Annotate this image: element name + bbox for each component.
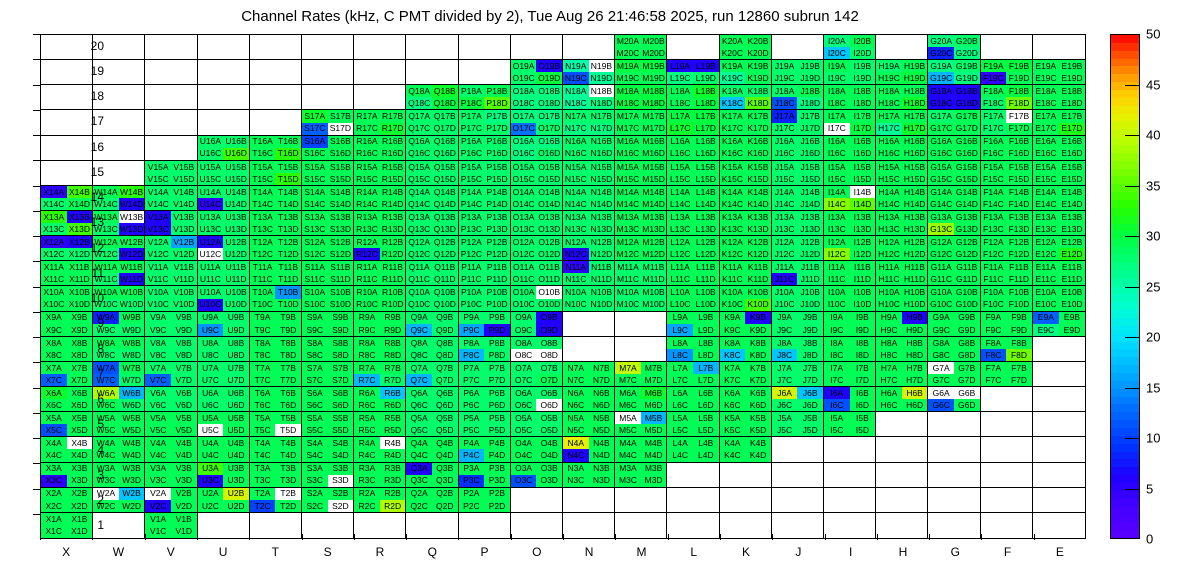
channel-Q7D[interactable]: Q7D [432,374,458,386]
heatmap-cell-U6[interactable]: U6AU6BU6CU6D [198,387,250,412]
channel-S16B[interactable]: S16B [328,136,354,148]
heatmap-cell-P15[interactable]: P15AP15BP15CP15D [459,161,511,186]
heatmap-cell-K10[interactable]: K10AK10BK10CK10D [720,286,772,311]
channel-E17A[interactable]: E17A [1033,110,1059,122]
channel-E15C[interactable]: E15C [1033,173,1059,185]
channel-T16D[interactable]: T16D [275,148,301,160]
channel-T9C[interactable]: T9C [250,324,276,336]
channel-U15B[interactable]: U15B [223,161,249,173]
channel-V4A[interactable]: V4A [145,437,171,449]
channel-R7D[interactable]: R7D [380,374,406,386]
channel-U6A[interactable]: U6A [198,387,224,399]
channel-W2D[interactable]: W2D [119,500,145,512]
channel-S15B[interactable]: S15B [328,161,354,173]
channel-I13A[interactable]: I13A [824,211,850,223]
channel-T8D[interactable]: T8D [275,349,301,361]
heatmap-cell-H15[interactable]: H15AH15BH15CH15D [876,161,928,186]
heatmap-cell-J13[interactable]: J13AJ13BJ13CJ13D [772,211,824,236]
channel-L10A[interactable]: L10A [667,286,693,298]
channel-H12A[interactable]: H12A [876,236,902,248]
channel-V13A[interactable]: V13A [145,211,171,223]
channel-I14C[interactable]: I14C [824,198,850,210]
heatmap-cell-O20[interactable] [511,35,563,60]
channel-Q7A[interactable]: Q7A [406,362,432,374]
channel-F9C[interactable]: F9C [981,324,1007,336]
channel-H13D[interactable]: H13D [902,223,928,235]
heatmap-cell-K18[interactable]: K18AK18BK18CK18D [720,85,772,110]
channel-P5D[interactable]: P5D [484,424,510,436]
channel-W7C[interactable]: W7C [93,374,119,386]
channel-V12D[interactable]: V12D [171,248,197,260]
heatmap-cell-E7[interactable] [1033,362,1085,387]
channel-U9B[interactable]: U9B [223,312,249,324]
heatmap-cell-M8[interactable] [615,337,667,362]
heatmap-cell-U15[interactable]: U15AU15BU15CU15D [198,161,250,186]
channel-P14D[interactable]: P14D [484,198,510,210]
channel-T5A[interactable]: T5A [250,412,276,424]
channel-M5C[interactable]: M5C [615,424,641,436]
channel-T4D[interactable]: T4D [275,449,301,461]
channel-K11B[interactable]: K11B [745,261,771,273]
channel-G9B[interactable]: G9B [954,312,980,324]
heatmap-cell-I18[interactable]: I18AI18BI18CI18D [824,85,876,110]
channel-P18B[interactable]: P18B [484,85,510,97]
heatmap-cell-U5[interactable]: U5AU5BU5CU5D [198,412,250,437]
heatmap-cell-J1[interactable] [772,513,824,538]
channel-K20C[interactable]: K20C [720,47,746,59]
channel-O14D[interactable]: O14D [536,198,562,210]
channel-I10C[interactable]: I10C [824,299,850,311]
channel-N3C[interactable]: N3C [563,475,589,487]
channel-L4B[interactable]: L4B [693,437,719,449]
channel-V14A[interactable]: V14A [145,186,171,198]
channel-L12B[interactable]: L12B [693,236,719,248]
channel-M6B[interactable]: M6B [641,387,667,399]
heatmap-cell-S2[interactable]: S2AS2BS2CS2D [302,488,354,513]
heatmap-cell-I12[interactable]: I12AI12BI12CI12D [824,236,876,261]
channel-M12A[interactable]: M12A [615,236,641,248]
heatmap-cell-S16[interactable]: S16AS16BS16CS16D [302,136,354,161]
heatmap-cell-W6[interactable]: W6AW6BW6CW6D [93,387,145,412]
heatmap-cell-X13[interactable]: X13AX13BX13CX13D [41,211,93,236]
channel-P9D[interactable]: P9D [484,324,510,336]
heatmap-cell-Q5[interactable]: Q5AQ5BQ5CQ5D [406,412,458,437]
heatmap-cell-U3[interactable]: U3AU3BU3CU3D [198,463,250,488]
channel-R11D[interactable]: R11D [380,273,406,285]
channel-R7A[interactable]: R7A [354,362,380,374]
channel-V7D[interactable]: V7D [171,374,197,386]
channel-I17C[interactable]: I17C [824,123,850,135]
heatmap-cell-V19[interactable] [145,60,197,85]
channel-W9D[interactable]: W9D [119,324,145,336]
channel-E19A[interactable]: E19A [1033,60,1059,72]
channel-F8A[interactable]: F8A [981,337,1007,349]
channel-N18C[interactable]: N18C [563,97,589,109]
channel-M14D[interactable]: M14D [641,198,667,210]
channel-G10A[interactable]: G10A [928,286,954,298]
channel-P18A[interactable]: P18A [459,85,485,97]
channel-X10A[interactable]: X10A [41,286,67,298]
channel-N16A[interactable]: N16A [563,136,589,148]
channel-H17C[interactable]: H17C [876,123,902,135]
heatmap-cell-V11[interactable]: V11AV11BV11CV11D [145,261,197,286]
channel-K14D[interactable]: K14D [745,198,771,210]
channel-O8D[interactable]: O8D [536,349,562,361]
channel-T4A[interactable]: T4A [250,437,276,449]
channel-U5D[interactable]: U5D [223,424,249,436]
heatmap-cell-N19[interactable]: N19AN19BN19CN19D [563,60,615,85]
heatmap-cell-J10[interactable]: J10AJ10BJ10CJ10D [772,286,824,311]
channel-S11D[interactable]: S11D [328,273,354,285]
channel-W4D[interactable]: W4D [119,449,145,461]
heatmap-cell-J9[interactable]: J9AJ9BJ9CJ9D [772,312,824,337]
heatmap-cell-L19[interactable]: L19AL19BL19CL19D [667,60,719,85]
channel-P13D[interactable]: P13D [484,223,510,235]
channel-Q10C[interactable]: Q10C [406,299,432,311]
channel-M3C[interactable]: M3C [615,475,641,487]
channel-N12B[interactable]: N12B [589,236,615,248]
channel-E14D[interactable]: E14D [1059,198,1085,210]
channel-J15D[interactable]: J15D [797,173,823,185]
channel-N18D[interactable]: N18D [589,97,615,109]
channel-J12D[interactable]: J12D [797,248,823,260]
channel-I18D[interactable]: I18D [850,97,876,109]
channel-T7A[interactable]: T7A [250,362,276,374]
channel-V14C[interactable]: V14C [145,198,171,210]
channel-E17C[interactable]: E17C [1033,123,1059,135]
channel-S4B[interactable]: S4B [328,437,354,449]
channel-I9B[interactable]: I9B [850,312,876,324]
channel-I14D[interactable]: I14D [850,198,876,210]
channel-F8B[interactable]: F8B [1006,337,1032,349]
heatmap-cell-L8[interactable]: L8AL8BL8CL8D [667,337,719,362]
channel-F9A[interactable]: F9A [981,312,1007,324]
channel-O5A[interactable]: O5A [511,412,537,424]
channel-H15D[interactable]: H15D [902,173,928,185]
channel-G19D[interactable]: G19D [954,72,980,84]
channel-L14A[interactable]: L14A [667,186,693,198]
channel-P6B[interactable]: P6B [484,387,510,399]
channel-P17B[interactable]: P17B [484,110,510,122]
channel-H8C[interactable]: H8C [876,349,902,361]
channel-N10C[interactable]: N10C [563,299,589,311]
channel-N19C[interactable]: N19C [563,72,589,84]
channel-G8D[interactable]: G8D [954,349,980,361]
channel-R16D[interactable]: R16D [380,148,406,160]
heatmap-cell-Q3[interactable]: Q3AQ3BQ3CQ3D [406,463,458,488]
channel-N17A[interactable]: N17A [563,110,589,122]
channel-O19B[interactable]: O19B [536,60,562,72]
heatmap-cell-K16[interactable]: K16AK16BK16CK16D [720,136,772,161]
heatmap-cell-P17[interactable]: P17AP17BP17CP17D [459,110,511,135]
heatmap-cell-N17[interactable]: N17AN17BN17CN17D [563,110,615,135]
channel-W12B[interactable]: W12B [119,236,145,248]
heatmap-cell-V7[interactable]: V7AV7BV7CV7D [145,362,197,387]
channel-K19B[interactable]: K19B [745,60,771,72]
channel-G9D[interactable]: G9D [954,324,980,336]
channel-T3D[interactable]: T3D [275,475,301,487]
heatmap-cell-T7[interactable]: T7AT7BT7CT7D [250,362,302,387]
channel-L4A[interactable]: L4A [667,437,693,449]
channel-O11C[interactable]: O11C [511,273,537,285]
heatmap-cell-N6[interactable]: N6AN6BN6CN6D [563,387,615,412]
channel-N13C[interactable]: N13C [563,223,589,235]
channel-L15C[interactable]: L15C [667,173,693,185]
channel-X9C[interactable]: X9C [41,324,67,336]
heatmap-cell-I3[interactable] [824,463,876,488]
channel-K17A[interactable]: K17A [720,110,746,122]
channel-O4A[interactable]: O4A [511,437,537,449]
channel-P8C[interactable]: P8C [459,349,485,361]
heatmap-plot-area[interactable]: M20AM20BM20CM20DK20AK20BK20CK20DI20AI20B… [40,34,1086,539]
channel-L4C[interactable]: L4C [667,449,693,461]
channel-U9A[interactable]: U9A [198,312,224,324]
channel-V2C[interactable]: V2C [145,500,171,512]
heatmap-cell-O16[interactable]: O16AO16BO16CO16D [511,136,563,161]
channel-P9A[interactable]: P9A [459,312,485,324]
heatmap-cell-W12[interactable]: W12AW12BW12CW12D [93,236,145,261]
channel-K6C[interactable]: K6C [720,399,746,411]
heatmap-cell-K20[interactable]: K20AK20BK20CK20D [720,35,772,60]
channel-F14B[interactable]: F14B [1006,186,1032,198]
channel-U4A[interactable]: U4A [198,437,224,449]
channel-R13A[interactable]: R13A [354,211,380,223]
channel-V5A[interactable]: V5A [145,412,171,424]
channel-T10D[interactable]: T10D [275,299,301,311]
channel-Q5B[interactable]: Q5B [432,412,458,424]
heatmap-cell-W7[interactable]: W7AW7BW7CW7D [93,362,145,387]
channel-S2A[interactable]: S2A [302,488,328,500]
channel-X5A[interactable]: X5A [41,412,67,424]
channel-U8D[interactable]: U8D [223,349,249,361]
channel-H13B[interactable]: H13B [902,211,928,223]
channel-F16B[interactable]: F16B [1006,136,1032,148]
channel-U12D[interactable]: U12D [223,248,249,260]
channel-P12A[interactable]: P12A [459,236,485,248]
channel-O6C[interactable]: O6C [511,399,537,411]
channel-T14A[interactable]: T14A [250,186,276,198]
channel-H9A[interactable]: H9A [876,312,902,324]
channel-S10B[interactable]: S10B [328,286,354,298]
channel-R12C[interactable]: R12C [354,248,380,260]
heatmap-cell-S7[interactable]: S7AS7BS7CS7D [302,362,354,387]
channel-K5D[interactable]: K5D [745,424,771,436]
channel-Q17D[interactable]: Q17D [432,123,458,135]
channel-W14A[interactable]: W14A [93,186,119,198]
heatmap-cell-F17[interactable]: F17AF17BF17CF17D [981,110,1033,135]
channel-M19C[interactable]: M19C [615,72,641,84]
heatmap-cell-L5[interactable]: L5AL5BL5CL5D [667,412,719,437]
channel-F12B[interactable]: F12B [1006,236,1032,248]
channel-K11A[interactable]: K11A [720,261,746,273]
channel-O19A[interactable]: O19A [511,60,537,72]
channel-O16A[interactable]: O16A [511,136,537,148]
heatmap-cell-W10[interactable]: W10AW10BW10CW10D [93,286,145,311]
heatmap-cell-W2[interactable]: W2AW2BW2CW2D [93,488,145,513]
channel-R14B[interactable]: R14B [380,186,406,198]
channel-M11A[interactable]: M11A [615,261,641,273]
heatmap-cell-L7[interactable]: L7AL7BL7CL7D [667,362,719,387]
channel-P4A[interactable]: P4A [459,437,485,449]
channel-O13A[interactable]: O13A [511,211,537,223]
heatmap-cell-G11[interactable]: G11AG11BG11CG11D [928,261,980,286]
channel-P7A[interactable]: P7A [459,362,485,374]
heatmap-cell-E8[interactable] [1033,337,1085,362]
channel-S12A[interactable]: S12A [302,236,328,248]
channel-L14C[interactable]: L14C [667,198,693,210]
heatmap-cell-E13[interactable]: E13AE13BE13CE13D [1033,211,1085,236]
channel-N11C[interactable]: N11C [563,273,589,285]
channel-X11D[interactable]: X11D [67,273,93,285]
channel-S6D[interactable]: S6D [328,399,354,411]
channel-T6B[interactable]: T6B [275,387,301,399]
channel-S10D[interactable]: S10D [328,299,354,311]
channel-W10D[interactable]: W10D [119,299,145,311]
channel-G17B[interactable]: G17B [954,110,980,122]
channel-L17D[interactable]: L17D [693,123,719,135]
heatmap-cell-R3[interactable]: R3AR3BR3CR3D [354,463,406,488]
channel-F17B[interactable]: F17B [1006,110,1032,122]
channel-V6A[interactable]: V6A [145,387,171,399]
channel-J6B[interactable]: J6B [797,387,823,399]
heatmap-cell-H2[interactable] [876,488,928,513]
channel-Q15C[interactable]: Q15C [406,173,432,185]
channel-F14C[interactable]: F14C [981,198,1007,210]
channel-M7C[interactable]: M7C [615,374,641,386]
channel-X8A[interactable]: X8A [41,337,67,349]
heatmap-cell-U7[interactable]: U7AU7BU7CU7D [198,362,250,387]
channel-K13C[interactable]: K13C [720,223,746,235]
channel-H7A[interactable]: H7A [876,362,902,374]
channel-F17A[interactable]: F17A [981,110,1007,122]
heatmap-cell-N11[interactable]: N11AN11BN11CN11D [563,261,615,286]
channel-J18B[interactable]: J18B [797,85,823,97]
channel-U12B[interactable]: U12B [223,236,249,248]
channel-S2B[interactable]: S2B [328,488,354,500]
channel-E12D[interactable]: E12D [1059,248,1085,260]
channel-L8C[interactable]: L8C [667,349,693,361]
channel-F10D[interactable]: F10D [1006,299,1032,311]
channel-K10D[interactable]: K10D [745,299,771,311]
channel-F11C[interactable]: F11C [981,273,1007,285]
channel-J17A[interactable]: J17A [772,110,798,122]
channel-O19C[interactable]: O19C [511,72,537,84]
channel-S14D[interactable]: S14D [328,198,354,210]
channel-T8B[interactable]: T8B [275,337,301,349]
channel-G11C[interactable]: G11C [928,273,954,285]
channel-X14A[interactable]: X14A [41,186,67,198]
channel-X3A[interactable]: X3A [41,463,67,475]
channel-U16D[interactable]: U16D [223,148,249,160]
channel-J7B[interactable]: J7B [797,362,823,374]
channel-V12B[interactable]: V12B [171,236,197,248]
heatmap-cell-K12[interactable]: K12AK12BK12CK12D [720,236,772,261]
channel-H12B[interactable]: H12B [902,236,928,248]
channel-M15A[interactable]: M15A [615,161,641,173]
heatmap-cell-E18[interactable]: E18AE18BE18CE18D [1033,85,1085,110]
channel-G20B[interactable]: G20B [954,35,980,47]
channel-S17B[interactable]: S17B [328,110,354,122]
channel-J7C[interactable]: J7C [772,374,798,386]
channel-S16A[interactable]: S16A [302,136,328,148]
channel-O4D[interactable]: O4D [536,449,562,461]
channel-E11A[interactable]: E11A [1033,261,1059,273]
channel-M18B[interactable]: M18B [641,85,667,97]
heatmap-cell-J19[interactable]: J19AJ19BJ19CJ19D [772,60,824,85]
channel-S4C[interactable]: S4C [302,449,328,461]
channel-S6C[interactable]: S6C [302,399,328,411]
heatmap-cell-S1[interactable] [302,513,354,538]
channel-U8A[interactable]: U8A [198,337,224,349]
channel-J7A[interactable]: J7A [772,362,798,374]
channel-P10D[interactable]: P10D [484,299,510,311]
heatmap-cell-F16[interactable]: F16AF16BF16CF16D [981,136,1033,161]
heatmap-cell-L13[interactable]: L13AL13BL13CL13D [667,211,719,236]
channel-Q14D[interactable]: Q14D [432,198,458,210]
channel-V11A[interactable]: V11A [145,261,171,273]
channel-K10B[interactable]: K10B [745,286,771,298]
channel-K7B[interactable]: K7B [745,362,771,374]
channel-X9A[interactable]: X9A [41,312,67,324]
channel-L5C[interactable]: L5C [667,424,693,436]
channel-I12B[interactable]: I12B [850,236,876,248]
channel-E18C[interactable]: E18C [1033,97,1059,109]
channel-K5C[interactable]: K5C [720,424,746,436]
channel-E18A[interactable]: E18A [1033,85,1059,97]
heatmap-cell-P18[interactable]: P18AP18BP18CP18D [459,85,511,110]
heatmap-cell-F8[interactable]: F8AF8BF8CF8D [981,337,1033,362]
channel-W4A[interactable]: W4A [93,437,119,449]
channel-J9D[interactable]: J9D [797,324,823,336]
heatmap-cell-E20[interactable] [1033,35,1085,60]
heatmap-cell-H10[interactable]: H10AH10BH10CH10D [876,286,928,311]
channel-K12A[interactable]: K12A [720,236,746,248]
channel-E14A[interactable]: E14A [1033,186,1059,198]
heatmap-cell-T20[interactable] [250,35,302,60]
channel-M15B[interactable]: M15B [641,161,667,173]
channel-V4B[interactable]: V4B [171,437,197,449]
heatmap-cell-J5[interactable]: J5AJ5BJ5CJ5D [772,412,824,437]
heatmap-cell-L14[interactable]: L14AL14BL14CL14D [667,186,719,211]
channel-S10A[interactable]: S10A [302,286,328,298]
channel-S12C[interactable]: S12C [302,248,328,260]
channel-L5A[interactable]: L5A [667,412,693,424]
channel-Q16D[interactable]: Q16D [432,148,458,160]
channel-R2B[interactable]: R2B [380,488,406,500]
heatmap-cell-M7[interactable]: M7AM7BM7CM7D [615,362,667,387]
channel-W10C[interactable]: W10C [93,299,119,311]
channel-K18B[interactable]: K18B [745,85,771,97]
heatmap-cell-M4[interactable]: M4AM4BM4CM4D [615,437,667,462]
channel-O6D[interactable]: O6D [536,399,562,411]
heatmap-cell-F4[interactable] [981,437,1033,462]
channel-O18C[interactable]: O18C [511,97,537,109]
channel-V6B[interactable]: V6B [171,387,197,399]
heatmap-cell-V8[interactable]: V8AV8BV8CV8D [145,337,197,362]
channel-S7A[interactable]: S7A [302,362,328,374]
channel-S9D[interactable]: S9D [328,324,354,336]
channel-T3B[interactable]: T3B [275,463,301,475]
channel-U3C[interactable]: U3C [198,475,224,487]
channel-H18D[interactable]: H18D [902,97,928,109]
channel-H18C[interactable]: H18C [876,97,902,109]
channel-R6B[interactable]: R6B [380,387,406,399]
heatmap-cell-I7[interactable]: I7AI7BI7CI7D [824,362,876,387]
channel-T15B[interactable]: T15B [275,161,301,173]
channel-O15D[interactable]: O15D [536,173,562,185]
channel-G6D[interactable]: G6D [954,399,980,411]
channel-T11D[interactable]: T11D [275,273,301,285]
